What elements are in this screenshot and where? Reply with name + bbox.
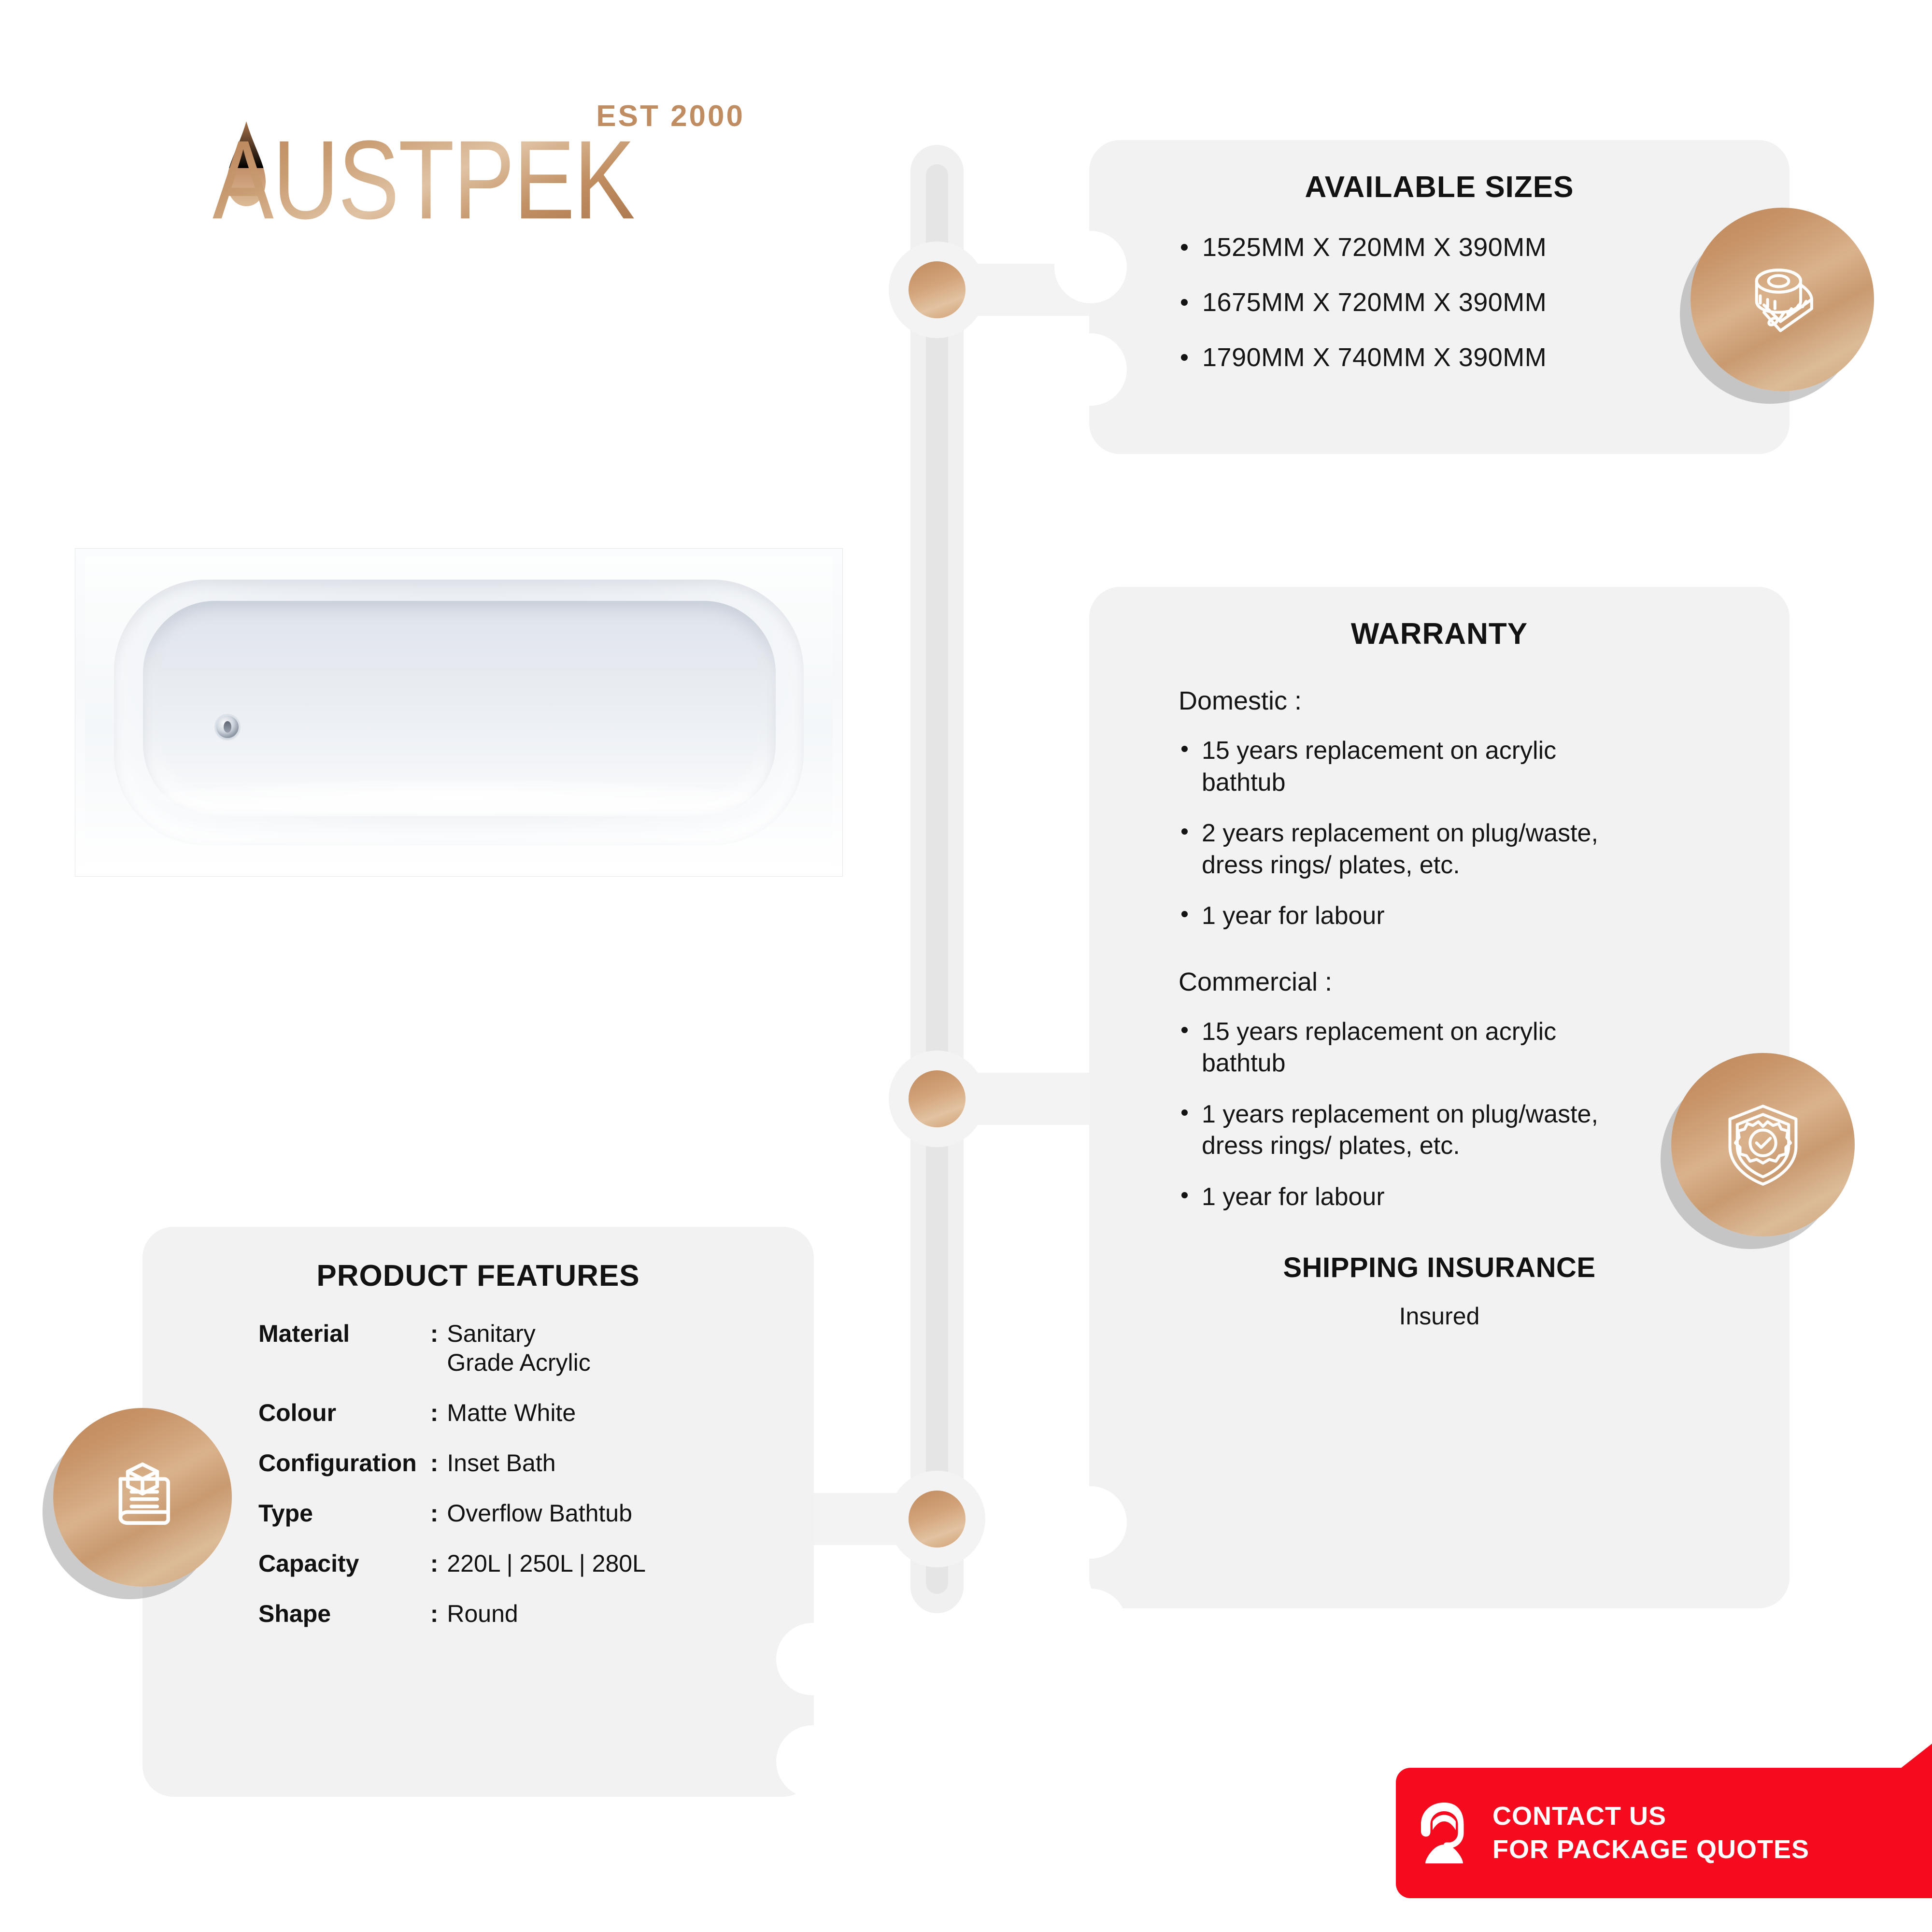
feature-colon: : [430, 1599, 447, 1649]
brand-name: AUSTPEK [213, 124, 634, 236]
product-photo [75, 548, 843, 877]
product-features-table: Material : Sanitary Grade Acrylic Colour… [258, 1319, 646, 1649]
bathtub-highlight [157, 781, 755, 814]
list-item: 1525MM X 720MM X 390MM [1176, 232, 1790, 262]
product-features-panel: PRODUCT FEATURES Material : Sanitary Gra… [142, 1227, 814, 1797]
list-item: 1 year for labour [1179, 1181, 1636, 1213]
contact-line-1: CONTACT US [1492, 1800, 1809, 1833]
feature-key: Colour [258, 1398, 430, 1449]
feature-key: Shape [258, 1599, 430, 1649]
rail-node-dot [909, 1491, 966, 1548]
list-item: 15 years replacement on acrylic bathtub [1179, 1016, 1636, 1080]
feature-colon: : [430, 1398, 447, 1449]
bathtub-outer-shell [85, 556, 833, 868]
warranty-domestic-label: Domestic : [1179, 686, 1790, 716]
feature-value: Round [447, 1599, 646, 1649]
warranty-title: WARRANTY [1089, 617, 1790, 651]
warranty-domestic-list: 15 years replacement on acrylic bathtub … [1179, 735, 1790, 932]
feature-value: Matte White [447, 1398, 646, 1449]
list-item: 15 years replacement on acrylic bathtub [1179, 735, 1636, 798]
list-item: 2 years replacement on plug/waste, dress… [1179, 818, 1636, 881]
list-item: 1790MM X 740MM X 390MM [1176, 342, 1790, 372]
feature-key: Capacity [258, 1549, 430, 1599]
contact-line-2: FOR PACKAGE QUOTES [1492, 1833, 1809, 1866]
table-row: Material : Sanitary Grade Acrylic [258, 1319, 646, 1398]
measuring-tape-icon [1736, 254, 1828, 345]
headset-support-icon-wrap [1396, 1797, 1492, 1869]
feature-key: Type [258, 1499, 430, 1549]
infographic-canvas: EST 2000 AUSTPEK [0, 0, 1932, 1932]
list-item: 1 years replacement on plug/waste, dress… [1179, 1099, 1636, 1162]
table-row: Configuration : Inset Bath [258, 1449, 646, 1499]
rail-node-dot [909, 261, 966, 318]
rail-node-warranty [889, 1051, 985, 1147]
feature-value: Inset Bath [447, 1449, 646, 1499]
warranty-badge [1671, 1053, 1855, 1236]
panel-notch [776, 1725, 849, 1798]
panel-notch [1054, 1589, 1127, 1661]
warranty-commercial-label: Commercial : [1179, 967, 1790, 997]
shield-check-icon [1717, 1099, 1809, 1191]
panel-notch [776, 1623, 849, 1695]
contact-text-block: CONTACT US FOR PACKAGE QUOTES [1492, 1800, 1809, 1866]
available-sizes-panel: AVAILABLE SIZES 1525MM X 720MM X 390MM 1… [1089, 140, 1790, 454]
connector-rail-inner [926, 164, 948, 1594]
feature-value: Sanitary Grade Acrylic [447, 1319, 646, 1398]
contact-us-banner[interactable]: CONTACT US FOR PACKAGE QUOTES [1396, 1768, 1932, 1898]
shipping-insurance-title: SHIPPING INSURANCE [1089, 1251, 1790, 1284]
rail-node-features [889, 1471, 985, 1567]
table-row: Capacity : 220L | 250L | 280L [258, 1549, 646, 1599]
brand-logo: EST 2000 AUSTPEK [213, 99, 753, 215]
panel-notch [1054, 231, 1127, 303]
feature-value: 220L | 250L | 280L [447, 1549, 646, 1599]
table-row: Type : Overflow Bathtub [258, 1499, 646, 1549]
feature-key: Material [258, 1319, 430, 1398]
feature-key: Configuration [258, 1449, 430, 1499]
sizes-badge [1690, 208, 1874, 391]
rail-node-sizes [889, 241, 985, 338]
bathtub-drain-icon [216, 716, 239, 738]
feature-colon: : [430, 1499, 447, 1549]
panel-notch [1054, 333, 1127, 406]
feature-colon: : [430, 1449, 447, 1499]
product-features-title: PRODUCT FEATURES [142, 1259, 814, 1293]
feature-colon: : [430, 1549, 447, 1599]
spec-sheet-icon [97, 1451, 188, 1543]
list-item: 1 year for labour [1179, 900, 1636, 932]
shipping-insurance-value: Insured [1089, 1302, 1790, 1330]
available-sizes-title: AVAILABLE SIZES [1089, 170, 1790, 204]
rail-node-dot [909, 1070, 966, 1127]
panel-notch [1054, 1486, 1127, 1559]
feature-value: Overflow Bathtub [447, 1499, 646, 1549]
feature-colon: : [430, 1319, 447, 1398]
headset-support-icon [1408, 1797, 1480, 1869]
banner-ribbon-tail [1864, 1744, 1932, 1797]
features-badge [53, 1408, 232, 1587]
table-row: Shape : Round [258, 1599, 646, 1649]
table-row: Colour : Matte White [258, 1398, 646, 1449]
